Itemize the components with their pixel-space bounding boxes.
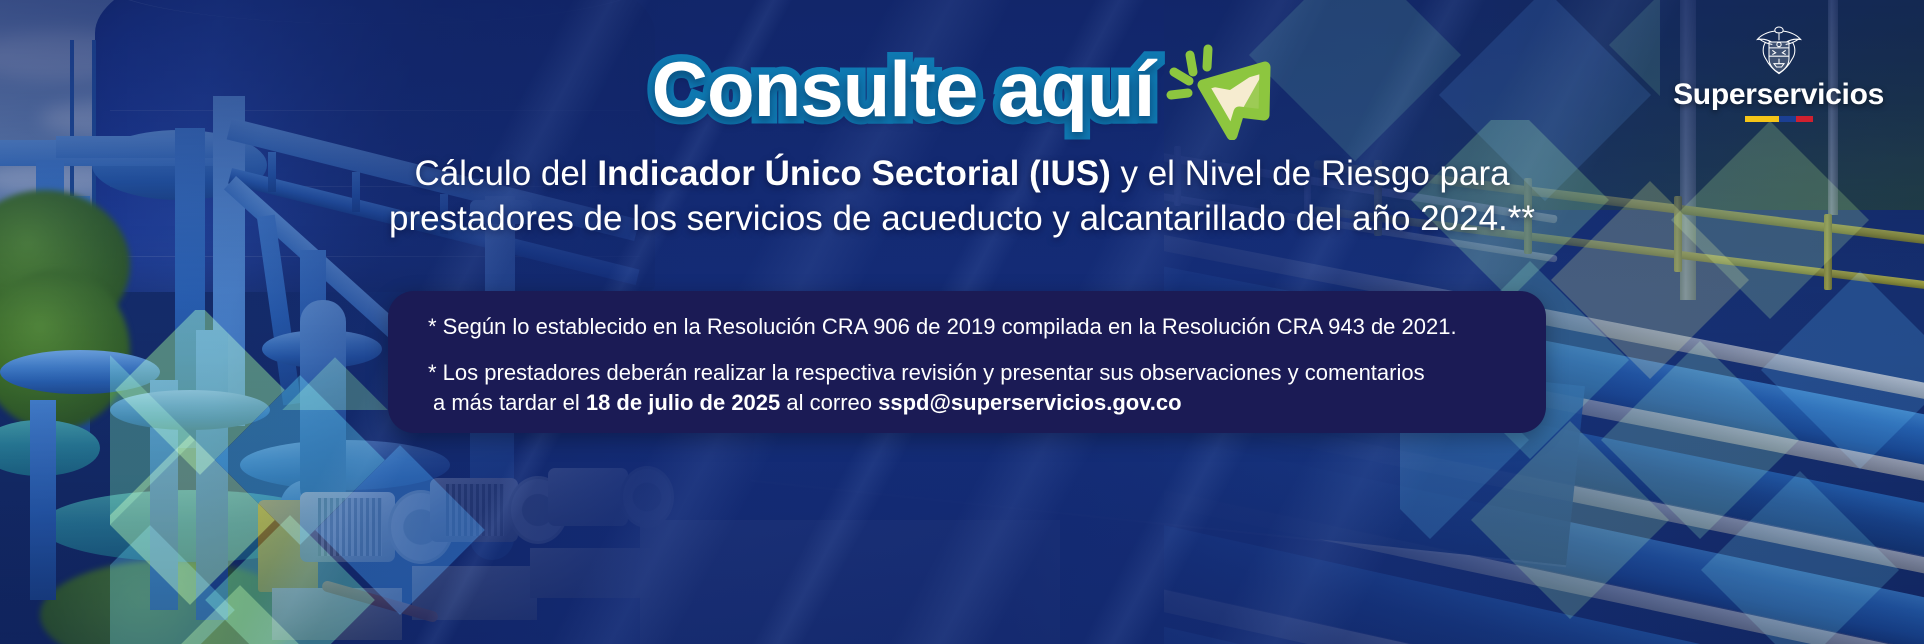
colombia-coat-of-arms-icon [1754, 22, 1804, 77]
subtitle-l1-bold: Indicador Único Sectorial (IUS) [597, 154, 1110, 193]
logo-wordmark: Superservicios [1673, 78, 1884, 112]
subtitle: Cálculo del Indicador Único Sectorial (I… [347, 152, 1577, 242]
flag-yellow [1745, 116, 1779, 122]
flag-blue [1779, 116, 1796, 122]
subtitle-line-2: prestadores de los servicios de acueduct… [347, 197, 1577, 242]
colombia-flag-bar [1745, 116, 1813, 122]
superservicios-logo[interactable]: Superservicios [1673, 22, 1884, 122]
page-title: Consulte aquí [652, 50, 1155, 128]
subtitle-l1-a: Cálculo del [414, 154, 597, 193]
deadline-date: 18 de julio de 2025 [586, 390, 780, 415]
superservicios-banner: Consulte aquí Cálculo del Indicador Únic… [0, 0, 1924, 644]
click-cursor-icon [1160, 40, 1272, 140]
note-deadline-mid: al correo [780, 390, 878, 415]
notes-box: * Según lo establecido en la Resolución … [388, 291, 1546, 433]
note-deadline: * Los prestadores deberán realizar la re… [428, 358, 1510, 417]
contact-email[interactable]: sspd@superservicios.gov.co [878, 390, 1182, 415]
subtitle-line-1: Cálculo del Indicador Único Sectorial (I… [347, 152, 1577, 197]
flag-red [1796, 116, 1813, 122]
subtitle-l1-c: y el Nivel de Riesgo para [1111, 154, 1510, 193]
note-resolution: * Según lo establecido en la Resolución … [428, 312, 1510, 341]
note-deadline-prefix: a más tardar el [428, 390, 586, 415]
note-deadline-line1: * Los prestadores deberán realizar la re… [428, 360, 1425, 385]
headline-row: Consulte aquí [0, 38, 1924, 140]
